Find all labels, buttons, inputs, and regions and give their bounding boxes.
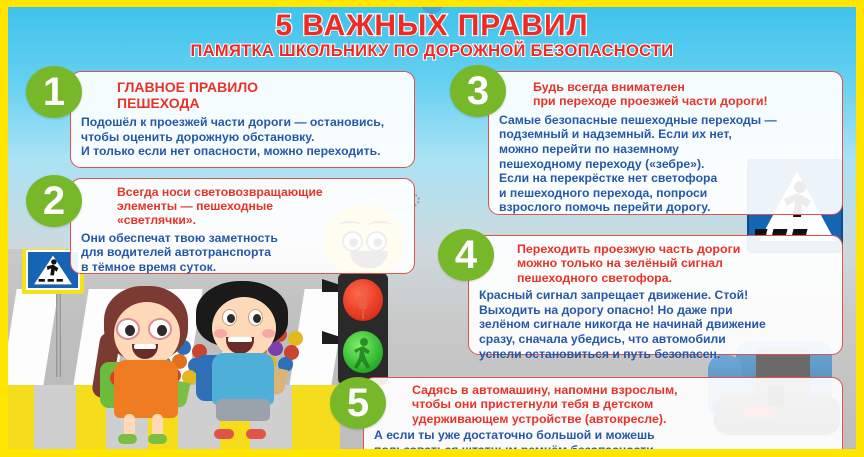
traffic-light-green-lamp (343, 331, 383, 373)
rule-4-body-line-2: Выходить на дорогу опасно! Но даже при (479, 303, 832, 318)
rule-5-heading-line-3: удерживающем устройстве (автокресле). (412, 412, 832, 426)
poster-frame: 5 ВАЖНЫХ ПРАВИЛ ПАМЯТКА ШКОЛЬНИКУ ПО ДОР… (0, 0, 864, 457)
rule-2-heading-line-3: «светлячки». (117, 213, 404, 227)
pedestrian-traffic-light-icon (330, 273, 392, 385)
rule-4-body-line-3: зелёном сигнале никогда не начинай движе… (479, 317, 832, 332)
rule-card-2: Всегда носи световозвращающие элементы —… (70, 178, 415, 274)
rule-3-heading-line-1: Будь всегда внимателен (499, 80, 832, 94)
traffic-light-red-lamp (343, 279, 383, 321)
rule-5-heading-line-2: чтобы они пристегнули тебя в детском (412, 397, 832, 411)
rule-3-body-line-6: и пешеходного перехода, попроси (499, 186, 832, 201)
rule-5-body-line-2: пользоваться штатным ремнём безопасности… (374, 443, 832, 449)
poster-subtitle: ПАМЯТКА ШКОЛЬНИКУ ПО ДОРОЖНОЙ БЕЗОПАСНОС… (8, 42, 856, 60)
rule-5-heading-line-1: Садясь в автомашину, напомни взрослым, (412, 383, 832, 397)
rule-2-heading-line-1: Всегда носи световозвращающие (117, 185, 404, 199)
rule-2-body-line-3: в тёмное время суток. (81, 260, 404, 275)
rule-3-body-line-5: Если на перекрёстке нет светофора (499, 171, 832, 186)
rule-card-5: Садясь в автомашину, напомни взрослым, ч… (363, 377, 843, 449)
rule-4-heading-line-1: Переходить проезжую часть дороги (517, 242, 832, 256)
children-crossing-illustration (8, 249, 340, 449)
rule-3-body-line-7: взрослого помочь перейти дорогу. (499, 200, 832, 215)
rule-number-5: 5 (330, 377, 386, 429)
sign-pole (56, 291, 61, 377)
rule-1-body-line-3: И только если нет опасности, можно перех… (81, 144, 404, 159)
rule-number-2: 2 (26, 175, 82, 227)
rule-4-body-line-4: сразу, сначала убедись, что автомобили (479, 332, 832, 347)
boy-pedestrian (186, 283, 304, 441)
rule-3-body-line-2: подземный и надземный. Если их нет, (499, 127, 832, 142)
poster-header: 5 ВАЖНЫХ ПРАВИЛ ПАМЯТКА ШКОЛЬНИКУ ПО ДОР… (8, 7, 856, 59)
rule-3-body-line-3: можно перейти по наземному (499, 142, 832, 157)
poster-canvas: 5 ВАЖНЫХ ПРАВИЛ ПАМЯТКА ШКОЛЬНИКУ ПО ДОР… (8, 7, 856, 449)
rule-3-body-line-1: Самые безопасные пешеходные переходы — (499, 113, 832, 128)
rule-4-body-line-5: успели остановиться и путь безопасен. (479, 347, 832, 362)
rule-number-4: 4 (438, 229, 494, 281)
rule-1-heading-line-2: ПЕШЕХОДА (117, 95, 404, 111)
rule-number-3: 3 (450, 65, 506, 117)
rule-1-body-line-1: Подошёл к проезжей части дороги — остано… (81, 115, 404, 130)
rule-3-body-line-4: пешеходному переходу («зебре»). (499, 157, 832, 172)
rule-card-1: ГЛАВНОЕ ПРАВИЛО ПЕШЕХОДА Подошёл к проез… (70, 71, 415, 168)
rule-1-heading-line-1: ГЛАВНОЕ ПРАВИЛО (117, 79, 404, 95)
rule-number-1: 1 (26, 66, 82, 118)
rule-1-body-line-2: чтобы оценить дорожную обстановку. (81, 130, 404, 145)
rule-4-body-line-1: Красный сигнал запрещает движение. Стой! (479, 288, 832, 303)
rule-card-4: Переходить проезжую часть дороги можно т… (468, 235, 843, 355)
rule-2-body-line-2: для водителей автотранспорта (81, 245, 404, 260)
rule-card-3: Будь всегда внимателен при переходе прое… (488, 71, 843, 215)
rule-5-body-line-1: А если ты уже достаточно большой и можеш… (374, 428, 832, 443)
rule-4-heading-line-2: можно только на зелёный сигнал (517, 256, 832, 270)
rule-2-heading-line-2: элементы — пешеходные (117, 199, 404, 213)
rule-3-heading-line-2: при переходе проезжей части дороги! (499, 94, 832, 108)
rule-2-body-line-1: Они обеспечат твою заметность (81, 231, 404, 246)
rule-4-heading-line-3: пешеходного светофора. (517, 271, 832, 285)
